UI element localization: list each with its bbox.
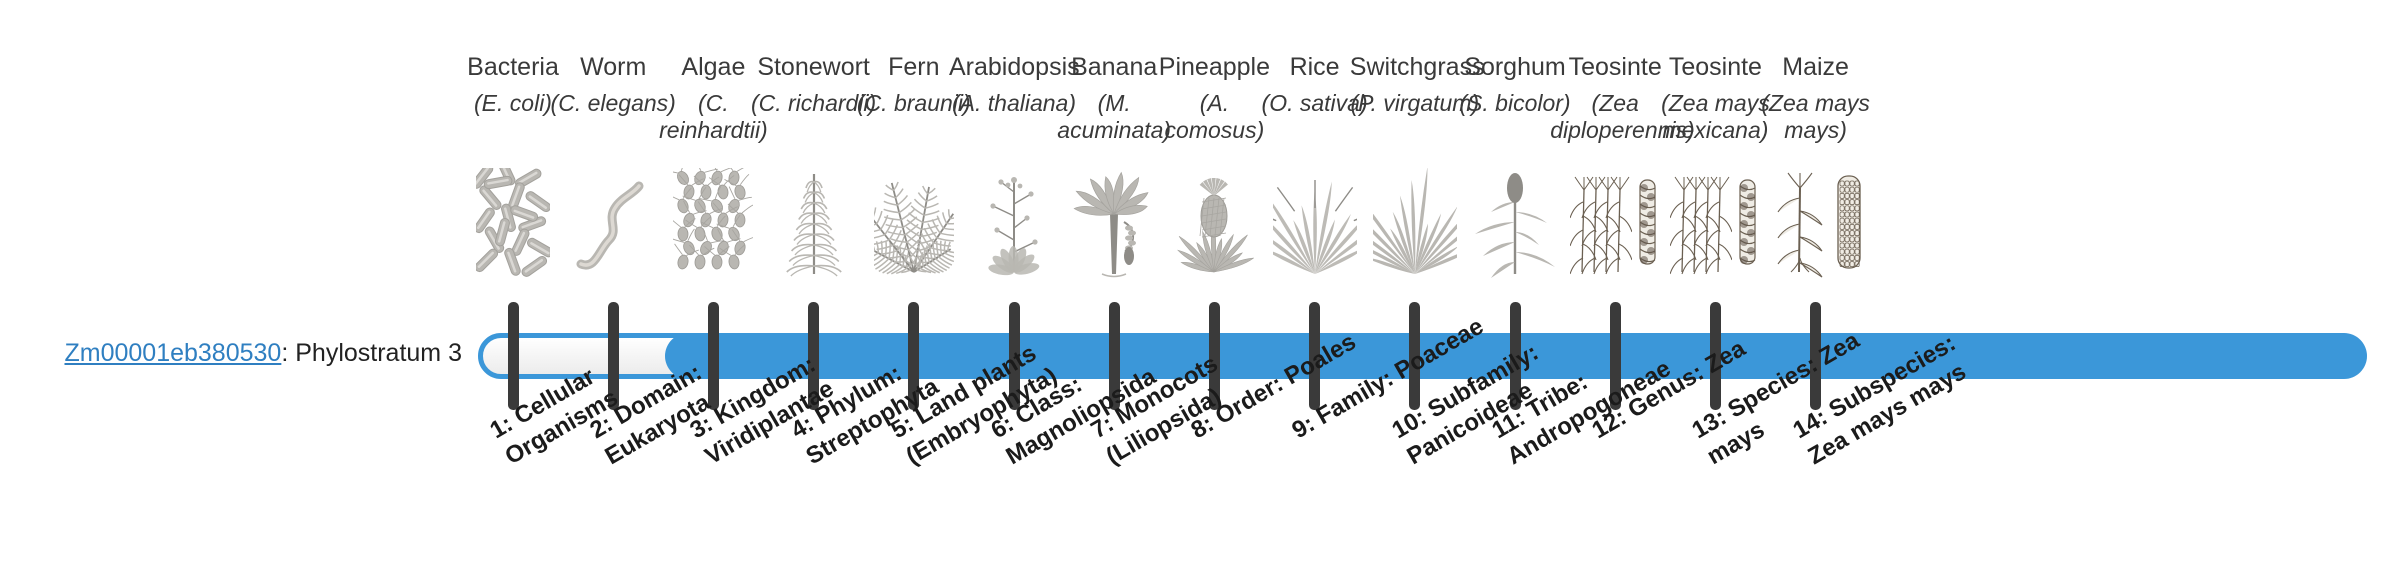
gene-id-link[interactable]: Zm00001eb380530 <box>64 339 281 367</box>
phylostratum-value: Phylostratum 3 <box>295 339 462 367</box>
gene-phylostratum-label: Zm00001eb380530: Phylostratum 3 <box>0 338 462 368</box>
species-column-maize: Maize(Zea mays mays) <box>1751 52 1881 144</box>
gene-label-separator: : <box>281 339 295 367</box>
species-common-name: Maize <box>1751 52 1881 82</box>
maize-plant-and-ear-icon <box>1751 168 1881 278</box>
rank-number: 9: <box>1287 410 1319 444</box>
rank-number: 8: <box>1187 410 1219 444</box>
phylostratum-figure: Zm00001eb380530: Phylostratum 3 Bacteria… <box>0 0 2400 580</box>
phylostratum-tick-1[interactable] <box>508 302 519 410</box>
species-latin-name: (Zea mays mays) <box>1751 90 1881 144</box>
